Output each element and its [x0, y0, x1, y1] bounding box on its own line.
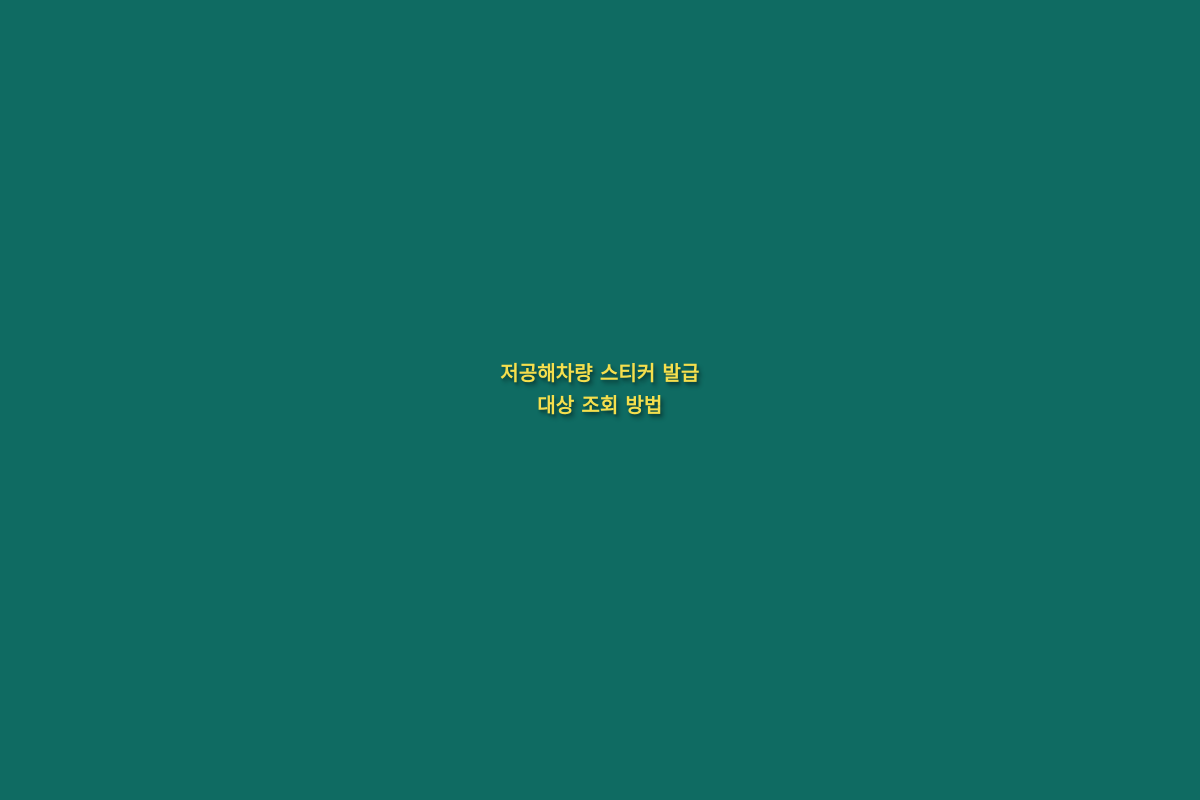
title-banner: 저공해차량 스티커 발급 대상 조회 방법: [0, 0, 1200, 800]
headline-line-1: 저공해차량 스티커 발급: [40, 361, 1160, 387]
headline-block: 저공해차량 스티커 발급 대상 조회 방법: [0, 361, 1200, 418]
headline-line-2: 대상 조회 방법: [40, 393, 1160, 419]
